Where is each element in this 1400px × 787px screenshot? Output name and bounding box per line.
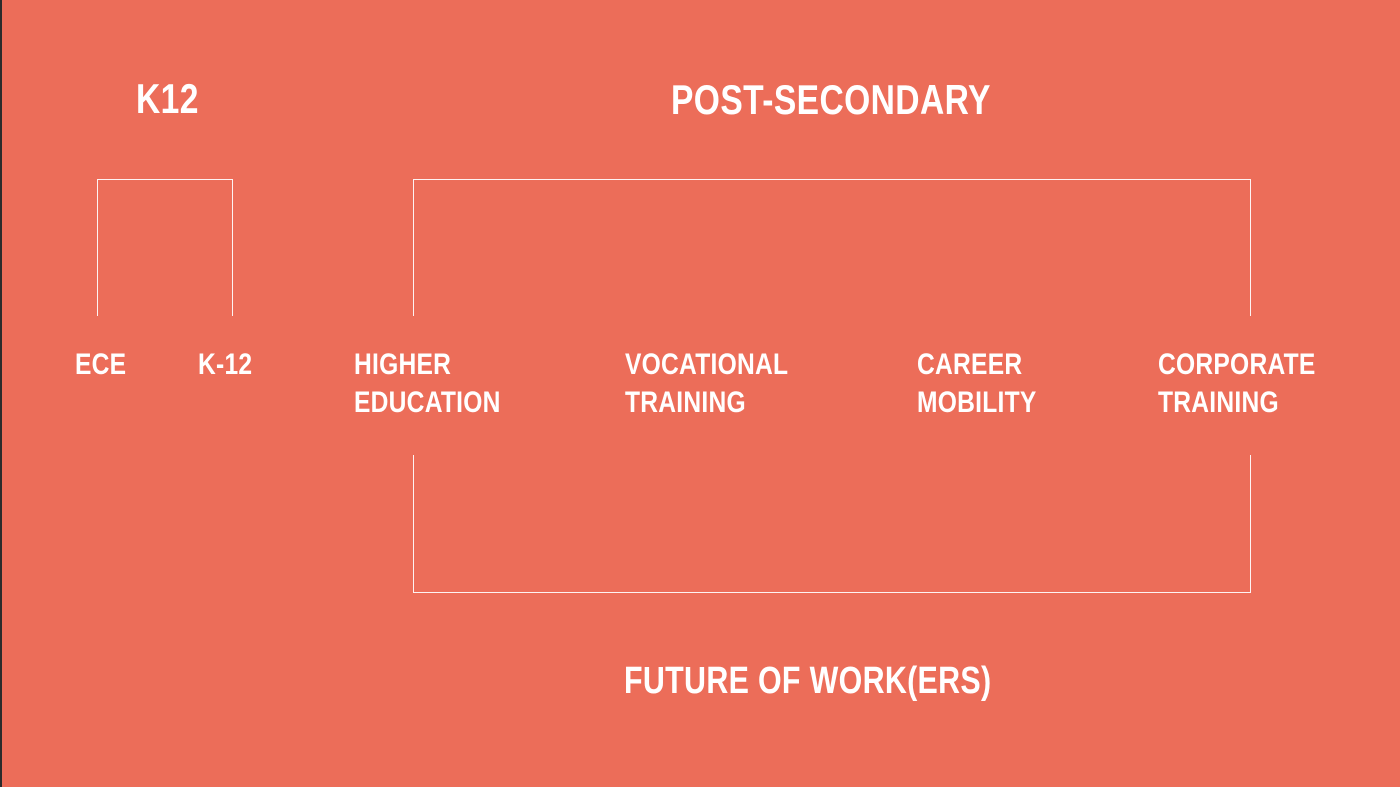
- node-label-career-mobility: CAREER MOBILITY: [917, 346, 1037, 423]
- node-label-vocational-training: VOCATIONAL TRAINING: [625, 346, 788, 423]
- bracket-post-secondary-top: [413, 179, 1251, 316]
- section-heading-k12: K12: [136, 78, 199, 120]
- footer-label-future-of-work: FUTURE OF WORK(ERS): [624, 662, 991, 700]
- node-label-ece: ECE: [75, 346, 126, 384]
- node-label-higher-education: HIGHER EDUCATION: [354, 346, 501, 423]
- bracket-post-secondary-bottom: [413, 455, 1251, 593]
- bracket-k12: [97, 179, 233, 316]
- education-pipeline-diagram: K12 POST-SECONDARY ECE K-12 HIGHER EDUCA…: [0, 0, 1400, 787]
- node-label-corporate-training: CORPORATE TRAINING: [1158, 346, 1316, 423]
- node-label-k-12: K-12: [198, 346, 252, 384]
- section-heading-post-secondary: POST-SECONDARY: [671, 79, 991, 121]
